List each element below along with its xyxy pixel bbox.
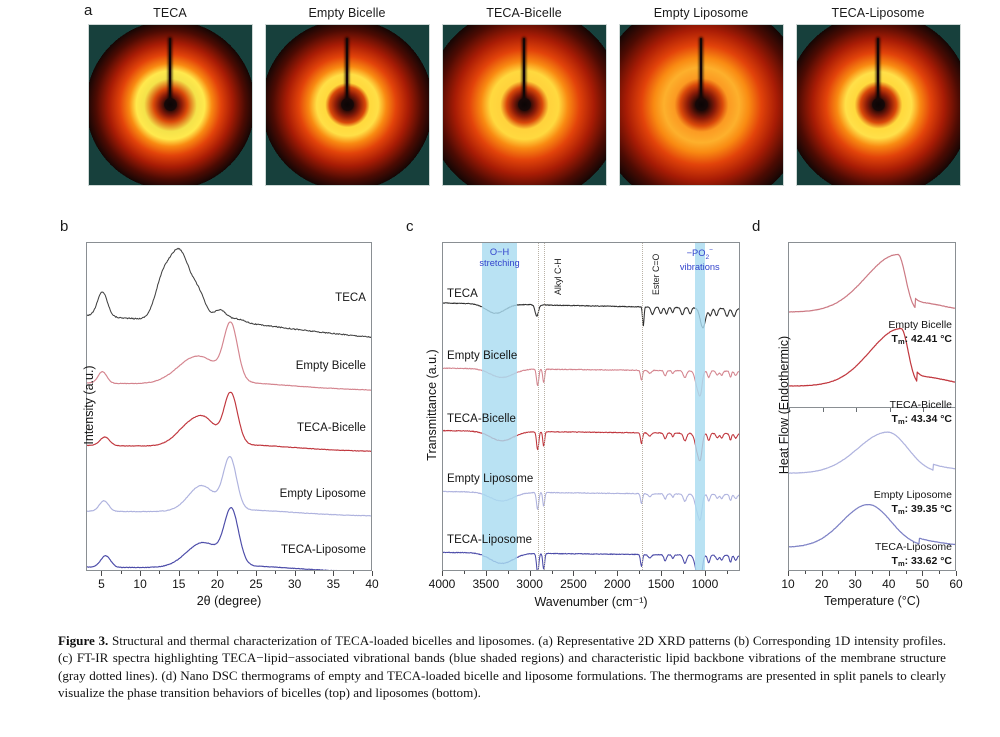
panel-d-x-ticks: 102030405060	[788, 571, 956, 593]
x-tick-minor	[906, 571, 907, 574]
x-tick-label: 50	[916, 577, 929, 591]
ftir-trace-label-empty-liposome: Empty Liposome	[447, 473, 533, 485]
dsc-tm-value: Tm: 42.41 °C	[888, 333, 952, 347]
split-divider-tick	[823, 408, 824, 412]
x-tick-label: 3500	[472, 577, 499, 591]
beamstop-shadow	[346, 38, 348, 107]
x-tick-label: 4000	[429, 577, 456, 591]
xrd-pattern-teca-liposome: TECA-Liposome	[790, 6, 966, 186]
dotted-guide-0	[538, 243, 539, 570]
beam-center	[341, 98, 354, 111]
xrd-trace-empty-bicelle	[87, 322, 372, 390]
xrd-image	[796, 24, 961, 186]
ftir-trace-label-empty-bicelle: Empty Bicelle	[447, 350, 517, 362]
dotted-guide-1	[544, 243, 545, 570]
x-tick-minor	[275, 571, 276, 574]
x-tick-minor	[727, 571, 728, 574]
dsc-trace-empty-liposome	[789, 432, 956, 473]
x-tick-minor	[872, 571, 873, 574]
xrd-trace-label-empty-bicelle: Empty Bicelle	[296, 360, 366, 372]
xrd-pattern-empty-liposome: Empty Liposome	[613, 6, 789, 186]
ftir-trace-label-teca-bicelle: TECA-Bicelle	[447, 413, 516, 425]
xrd-pattern-title: Empty Liposome	[613, 6, 789, 20]
xrd-trace-label-empty-liposome: Empty Liposome	[280, 488, 366, 500]
x-tick-minor	[508, 571, 509, 574]
x-tick-major	[295, 571, 296, 576]
band-note-line2: vibrations	[660, 262, 740, 273]
panel-b-x-axis-title: 2θ (degree)	[86, 594, 372, 608]
dsc-annotation-teca-bicelle: TECA-BicelleTm: 43.34 °C	[890, 399, 952, 427]
panel-a-2d-xrd: a TECAEmpty BicelleTECA-BicelleEmpty Lip…	[0, 0, 1000, 212]
xrd-image	[442, 24, 607, 186]
x-tick-minor	[683, 571, 684, 574]
x-tick-major	[956, 571, 957, 576]
beamstop-shadow	[877, 38, 879, 107]
x-tick-minor	[939, 571, 940, 574]
x-tick-label: 25	[249, 577, 262, 591]
x-tick-major	[922, 571, 923, 576]
xrd-trace-teca	[87, 248, 372, 337]
x-tick-minor	[805, 571, 806, 574]
ftir-trace-label-teca: TECA	[447, 288, 478, 300]
beam-center	[164, 98, 177, 111]
x-tick-label: 30	[849, 577, 862, 591]
xrd-image	[619, 24, 784, 186]
dsc-sample-name: TECA-Liposome	[875, 541, 952, 555]
x-tick-major	[889, 571, 890, 576]
x-tick-label: 1500	[648, 577, 675, 591]
xrd-pattern-teca-bicelle: TECA-Bicelle	[436, 6, 612, 186]
x-tick-major	[486, 571, 487, 576]
x-tick-minor	[464, 571, 465, 574]
x-tick-label: 2500	[560, 577, 587, 591]
xrd-pattern-title: Empty Bicelle	[259, 6, 435, 20]
panel-b-traces	[87, 243, 372, 571]
x-tick-label: 20	[815, 577, 828, 591]
band-note-line1: O−H	[460, 247, 540, 258]
x-tick-major	[617, 571, 618, 576]
x-tick-minor	[198, 571, 199, 574]
panel-d-x-axis-title: Temperature (°C)	[788, 594, 956, 608]
x-tick-major	[573, 571, 574, 576]
beamstop-shadow	[169, 38, 171, 107]
xrd-image	[88, 24, 253, 186]
figure-3: a TECAEmpty BicelleTECA-BicelleEmpty Lip…	[0, 0, 1000, 737]
x-tick-major	[530, 571, 531, 576]
x-tick-label: 3000	[516, 577, 543, 591]
dsc-trace-empty-bicelle	[789, 254, 956, 312]
x-tick-minor	[552, 571, 553, 574]
dsc-sample-name: Empty Bicelle	[888, 319, 952, 333]
x-tick-major	[822, 571, 823, 576]
beam-center	[695, 98, 708, 111]
panel-b-xrd-profiles: b TECAEmpty BicelleTECA-BicelleEmpty Lip…	[58, 218, 408, 610]
dsc-tm-value: Tm: 43.34 °C	[890, 413, 952, 427]
x-tick-minor	[121, 571, 122, 574]
xrd-trace-label-teca: TECA	[335, 292, 366, 304]
panel-letter-b: b	[60, 218, 68, 235]
dsc-sample-name: Empty Liposome	[874, 489, 952, 503]
caption-label: Figure 3.	[58, 633, 108, 648]
x-tick-label: 2000	[604, 577, 631, 591]
guide-note-ester-c-o: Ester C=O	[651, 254, 661, 295]
x-tick-label: 40	[365, 577, 378, 591]
xrd-trace-empty-liposome	[87, 457, 372, 516]
x-tick-minor	[595, 571, 596, 574]
beam-center	[518, 98, 531, 111]
x-tick-major	[788, 571, 789, 576]
x-tick-label: 1000	[692, 577, 719, 591]
band-note-line1: −PO2−	[660, 247, 740, 262]
x-tick-minor	[639, 571, 640, 574]
dsc-annotation-teca-liposome: TECA-LiposomeTm: 33.62 °C	[875, 541, 952, 569]
split-divider-tick	[856, 408, 857, 412]
beamstop-shadow	[700, 38, 702, 107]
panel-c-plot-area: O−Hstretching−PO2−vibrations Alkyl C-HEs…	[442, 242, 740, 571]
panel-c-x-axis-title: Wavenumber (cm⁻¹)	[442, 594, 740, 609]
dsc-annotation-empty-liposome: Empty LiposomeTm: 39.35 °C	[874, 489, 952, 517]
x-tick-minor	[159, 571, 160, 574]
panel-d-dsc: d Empty BicelleTm: 42.41 °CTECA-BicelleT…	[750, 218, 1000, 610]
x-tick-label: 40	[882, 577, 895, 591]
x-tick-major	[256, 571, 257, 576]
dsc-tm-value: Tm: 33.62 °C	[875, 555, 952, 569]
figure-caption: Figure 3. Structural and thermal charact…	[58, 632, 946, 702]
x-tick-major	[179, 571, 180, 576]
xrd-pattern-teca: TECA	[82, 6, 258, 186]
x-tick-label: 20	[211, 577, 224, 591]
dotted-guide-2	[642, 243, 643, 570]
panel-b-y-axis-title: Intensity (a.u.)	[82, 305, 96, 505]
x-tick-major	[661, 571, 662, 576]
x-tick-label: 35	[327, 577, 340, 591]
x-tick-label: 10	[781, 577, 794, 591]
ftir-trace-label-teca-liposome: TECA-Liposome	[447, 534, 532, 546]
x-tick-label: 15	[172, 577, 185, 591]
panel-b-x-ticks: 510152025303540	[86, 571, 372, 593]
x-tick-major	[855, 571, 856, 576]
xrd-pattern-title: TECA	[82, 6, 258, 20]
x-tick-label: 10	[133, 577, 146, 591]
x-tick-major	[705, 571, 706, 576]
x-tick-major	[140, 571, 141, 576]
xrd-trace-label-teca-liposome: TECA-Liposome	[281, 544, 366, 556]
band-note-oh-stretching: O−Hstretching	[460, 247, 540, 269]
panel-letter-c: c	[406, 218, 414, 235]
beam-center	[872, 98, 885, 111]
band-note-line2: stretching	[460, 258, 540, 269]
dsc-sample-name: TECA-Bicelle	[890, 399, 952, 413]
caption-text: Structural and thermal characterization …	[58, 633, 946, 700]
panel-d-plot-area: Empty BicelleTm: 42.41 °CTECA-BicelleTm:…	[788, 242, 956, 571]
x-tick-major	[372, 571, 373, 576]
panel-b-plot-area	[86, 242, 372, 571]
shaded-band-po2-vibrations	[695, 243, 706, 570]
panel-c-ftir: c O−Hstretching−PO2−vibrations Alkyl C-H…	[404, 218, 754, 610]
xrd-pattern-title: TECA-Bicelle	[436, 6, 612, 20]
xrd-pattern-empty-bicelle: Empty Bicelle	[259, 6, 435, 186]
x-tick-label: 30	[288, 577, 301, 591]
guide-note-alkyl-c-h: Alkyl C-H	[553, 258, 563, 295]
x-tick-major	[101, 571, 102, 576]
xrd-trace-teca-liposome	[87, 508, 372, 571]
x-tick-label: 60	[949, 577, 962, 591]
shaded-band-oh-stretching	[482, 243, 518, 570]
panel-d-y-axis-title: Heat Flow (Endothermic)	[777, 305, 791, 505]
beamstop-shadow	[523, 38, 525, 107]
x-tick-minor	[237, 571, 238, 574]
xrd-image	[265, 24, 430, 186]
panel-c-x-ticks: 4000350030002500200015001000	[442, 571, 740, 593]
panel-letter-d: d	[752, 218, 760, 235]
x-tick-minor	[353, 571, 354, 574]
x-tick-label: 5	[98, 577, 105, 591]
xrd-trace-label-teca-bicelle: TECA-Bicelle	[297, 422, 366, 434]
dsc-tm-value: Tm: 39.35 °C	[874, 503, 952, 517]
x-tick-major	[442, 571, 443, 576]
dsc-annotation-empty-bicelle: Empty BicelleTm: 42.41 °C	[888, 319, 952, 347]
band-note-po2-vibrations: −PO2−vibrations	[660, 247, 740, 273]
x-tick-major	[333, 571, 334, 576]
xrd-pattern-title: TECA-Liposome	[790, 6, 966, 20]
panel-c-y-axis-title: Transmittance (a.u.)	[425, 305, 439, 505]
x-tick-minor	[838, 571, 839, 574]
x-tick-major	[217, 571, 218, 576]
x-tick-minor	[314, 571, 315, 574]
